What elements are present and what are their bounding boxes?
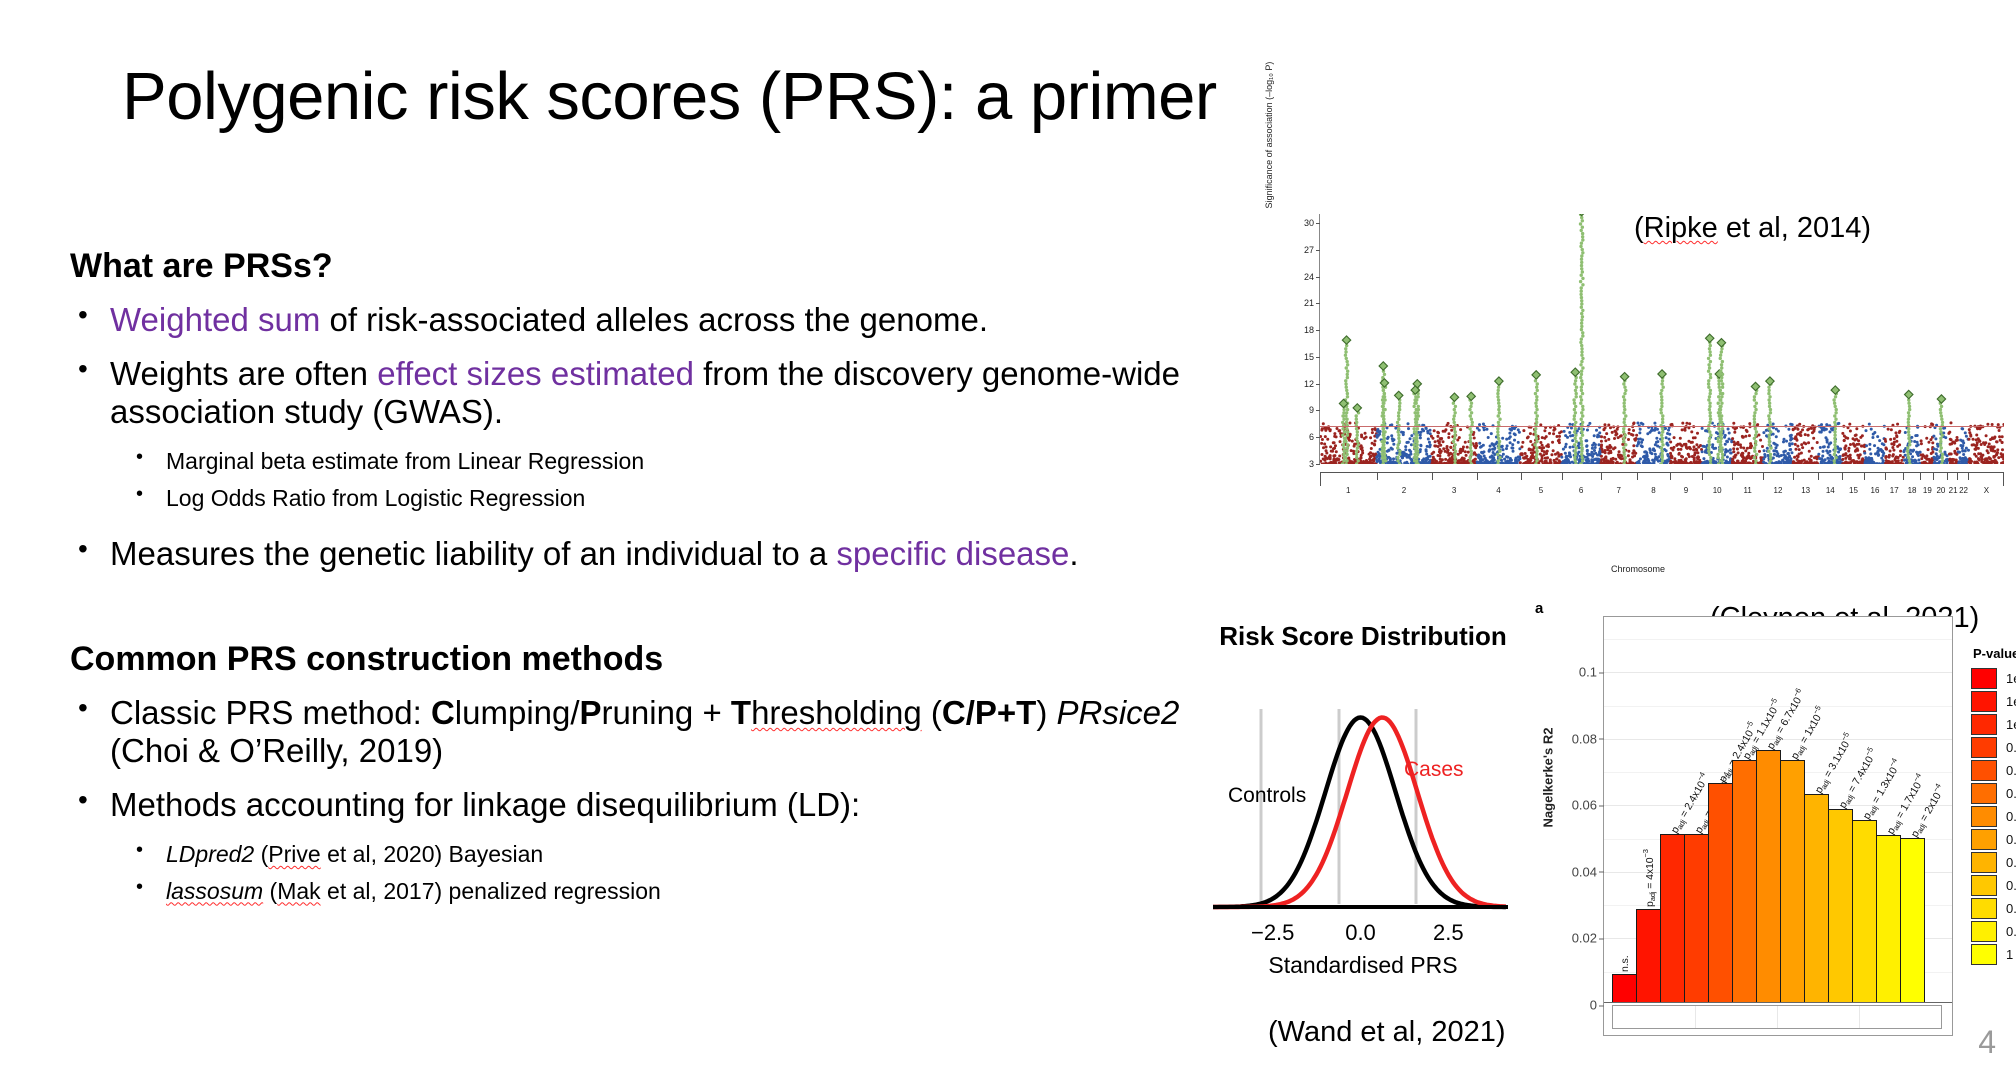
ldpred2-open-paren: ( xyxy=(254,841,268,867)
legend-row[interactable]: 0.5 xyxy=(1971,920,2016,943)
bar-chart-bar[interactable]: padj = 2.4x10−5 xyxy=(1708,783,1733,1003)
sub-bullet-log-odds-ratio: Log Odds Ratio from Logistic Regression xyxy=(70,484,1180,513)
manhattan-chromosome-tick-label: 1 xyxy=(1346,486,1350,495)
legend-title: P-value thresholds xyxy=(1973,646,2016,661)
legend-color-swatch xyxy=(1971,783,1997,804)
risk-score-distribution-figure: Risk Score Distribution Controls Cases −… xyxy=(1208,618,1518,1008)
legend-row[interactable]: 0.001 xyxy=(1971,736,2016,759)
bar-chart-bars: n.s.padj = 4x10−3padj = 2.4x10−4padj = 2… xyxy=(1612,629,1924,1003)
spacer xyxy=(70,589,1180,641)
legend-color-swatch xyxy=(1971,944,1997,965)
legend-row[interactable]: 0.005 xyxy=(1971,759,2016,782)
legend-label: 0.001 xyxy=(2006,740,2016,755)
bullet-liability-part-b: . xyxy=(1069,535,1078,572)
bullet-weights-part-a: Weights are often xyxy=(110,355,377,392)
citation-wand: (Wand et al, 2021) xyxy=(1268,1016,1506,1049)
manhattan-chromosome-tick-label: 10 xyxy=(1713,486,1722,495)
legend-row[interactable]: 0.4 xyxy=(1971,897,2016,920)
bullet-ld-methods: Methods accounting for linkage disequili… xyxy=(70,786,1180,824)
legend-color-swatch xyxy=(1971,714,1997,735)
lassosum-open-paren: ( xyxy=(263,878,277,904)
sub-bullet-marginal-beta: Marginal beta estimate from Linear Regre… xyxy=(70,447,1180,476)
bullet-weights-effect-sizes: Weights are often effect sizes estimated… xyxy=(70,355,1180,431)
manhattan-y-tick: 24 xyxy=(1304,272,1314,282)
bullet-weights-highlight: effect sizes estimated xyxy=(377,355,694,392)
density-label-controls: Controls xyxy=(1228,784,1306,808)
manhattan-chromosome-tick-label: 12 xyxy=(1774,486,1783,495)
section-heading-what-are-prss: What are PRSs? xyxy=(70,248,1180,285)
legend-label: 1e-06 xyxy=(2006,671,2016,686)
manhattan-chromosome-tick-label: 22 xyxy=(1959,486,1968,495)
bar-chart-y-axis-label: Nagelkerke's R2 xyxy=(1541,703,1556,853)
bar-chart-annotation: n.s. xyxy=(1619,955,1631,972)
sub-bullet-lassosum: lassosum (Mak et al, 2017) penalized reg… xyxy=(70,877,1180,906)
bar-chart-bar[interactable]: padj = 1.3x10−4 xyxy=(1852,820,1877,1003)
legend-color-swatch xyxy=(1971,737,1997,758)
legend-label: 1 xyxy=(2006,947,2013,962)
density-x-tick: 2.5 xyxy=(1433,920,1464,946)
bullet-weighted-sum: Weighted sum of risk-associated alleles … xyxy=(70,301,1180,339)
manhattan-y-tick: 12 xyxy=(1304,379,1314,389)
density-x-tick: −2.5 xyxy=(1251,920,1294,946)
legend-color-swatch xyxy=(1971,898,1997,919)
bullet-genetic-liability: Measures the genetic liability of an ind… xyxy=(70,535,1180,573)
bar-chart-frame: 00.020.040.060.080.1 n.s.padj = 4x10−3pa… xyxy=(1603,616,1953,1036)
legend-color-swatch xyxy=(1971,829,1997,850)
legend-label: 0.2 xyxy=(2006,855,2016,870)
bullet-liability-part-a: Measures the genetic liability of an ind… xyxy=(110,535,836,572)
legend-color-swatch xyxy=(1971,691,1997,712)
legend-label: 0.01 xyxy=(2006,786,2016,801)
legend-label: 0.3 xyxy=(2006,878,2016,893)
legend-row[interactable]: 0.01 xyxy=(1971,782,2016,805)
manhattan-y-tick: 3 xyxy=(1309,459,1314,469)
manhattan-chromosome-tick-label: 19 xyxy=(1923,486,1932,495)
bar-chart-plot-area: n.s.padj = 4x10−3padj = 2.4x10−4padj = 2… xyxy=(1612,629,1942,1003)
legend-row[interactable]: 0.05 xyxy=(1971,805,2016,828)
classic-letter-t: T xyxy=(731,694,751,731)
legend-color-swatch xyxy=(1971,921,1997,942)
lassosum-author: Mak xyxy=(277,878,320,904)
manhattan-chromosome-tick-label: 18 xyxy=(1908,486,1917,495)
bar-chart-bar[interactable]: padj = 7.4x10−5 xyxy=(1828,809,1853,1003)
density-curves-svg xyxy=(1208,704,1518,919)
classic-runing: runing + xyxy=(602,694,731,731)
tool-name-ldpred2: LDpred2 xyxy=(166,841,254,867)
manhattan-chromosome-tick-label: 8 xyxy=(1651,486,1655,495)
bar-chart-bar[interactable]: padj = 1x10−5 xyxy=(1780,760,1805,1003)
manhattan-chromosome-tick-label: 5 xyxy=(1539,486,1543,495)
legend-label: 1e-05 xyxy=(2006,694,2016,709)
legend-row[interactable]: 0.2 xyxy=(1971,851,2016,874)
manhattan-chromosome-tick-label: 16 xyxy=(1871,486,1880,495)
sub-bullet-ldpred2: LDpred2 (Prive et al, 2020) Bayesian xyxy=(70,840,1180,869)
bar-chart-bar[interactable]: padj = 2x10−4 xyxy=(1900,838,1925,1003)
page-title: Polygenic risk scores (PRS): a primer xyxy=(122,62,1217,132)
manhattan-y-tick: 27 xyxy=(1304,245,1314,255)
tool-name-prsice2: PRsice2 xyxy=(1056,694,1179,731)
bar-chart-bar[interactable]: padj = 4x10−3 xyxy=(1636,909,1661,1003)
legend-color-swatch xyxy=(1971,875,1997,896)
density-x-axis-title: Standardised PRS xyxy=(1208,952,1518,979)
classic-lumping: lumping/ xyxy=(455,694,580,731)
legend-label: 1e-04 xyxy=(2006,717,2016,732)
section-heading-common-methods: Common PRS construction methods xyxy=(70,641,1180,678)
classic-abbrev: C/P+T xyxy=(942,694,1036,731)
legend-label: 0.1 xyxy=(2006,832,2016,847)
legend-label: 0.5 xyxy=(2006,924,2016,939)
legend-row[interactable]: 1e-05 xyxy=(1971,690,2016,713)
manhattan-y-tick: 21 xyxy=(1304,298,1314,308)
legend-label: 0.4 xyxy=(2006,901,2016,916)
manhattan-x-axis-label: Chromosome xyxy=(1268,564,2008,574)
ldpred2-author: Prive xyxy=(268,841,320,867)
density-label-cases: Cases xyxy=(1404,758,1464,782)
manhattan-plot-area: 36912151821242730 xyxy=(1320,214,2004,464)
bar-chart-baseline xyxy=(1604,1002,1952,1003)
bar-chart-y-tick: 0.06 xyxy=(1572,798,1597,813)
manhattan-chromosome-tick-label: 14 xyxy=(1826,486,1835,495)
manhattan-chromosome-tick-label: 20 xyxy=(1936,486,1945,495)
manhattan-chromosome-tick-label: 7 xyxy=(1616,486,1620,495)
classic-letter-p: P xyxy=(580,694,602,731)
manhattan-chromosome-tick-label: 2 xyxy=(1402,486,1406,495)
bar-chart-bar[interactable]: n.s. xyxy=(1612,974,1637,1003)
manhattan-y-tick: 9 xyxy=(1309,405,1314,415)
bar-chart-x-axis-box xyxy=(1612,1005,1942,1029)
legend-entries: 1e-061e-051e-040.0010.0050.010.050.10.20… xyxy=(1971,667,2016,966)
bar-chart-bar[interactable]: padj = 2.4x10−4 xyxy=(1660,834,1685,1003)
bullet-weighted-sum-highlight: Weighted sum xyxy=(110,301,320,338)
manhattan-chromosome-tick-label: 3 xyxy=(1452,486,1456,495)
legend-row[interactable]: 0.1 xyxy=(1971,828,2016,851)
manhattan-y-axis-label: Significance of association (–log₁₀ P) xyxy=(1264,20,1274,250)
legend-label: 0.05 xyxy=(2006,809,2016,824)
manhattan-chromosome-tick-label: X xyxy=(1984,486,1989,495)
bar-chart-bar[interactable]: padj = 6.7x10−6 xyxy=(1756,750,1781,1003)
bullet-liability-highlight: specific disease xyxy=(836,535,1069,572)
bullet-classic-prs-method: Classic PRS method: Clumping/Pruning + T… xyxy=(70,694,1180,770)
bar-chart-annotation: padj = 4x10−3 xyxy=(1641,849,1657,907)
bar-chart-y-tick: 0.04 xyxy=(1572,864,1597,879)
legend-color-swatch xyxy=(1971,760,1997,781)
bullet-weighted-sum-rest: of risk-associated alleles across the ge… xyxy=(320,301,988,338)
panel-letter-a: a xyxy=(1535,600,1543,617)
slide-page-number: 4 xyxy=(1978,1024,1996,1061)
manhattan-chromosome-tick-label: 17 xyxy=(1890,486,1899,495)
bar-chart-bar[interactable]: padj = 1.7x10−4 xyxy=(1876,835,1901,1003)
manhattan-chromosome-tick-label: 13 xyxy=(1801,486,1810,495)
manhattan-y-tick: 6 xyxy=(1309,432,1314,442)
bar-chart-bar[interactable]: padj = 3.1x10−5 xyxy=(1804,794,1829,1003)
manhattan-y-tick: 30 xyxy=(1304,218,1314,228)
legend-label: 0.005 xyxy=(2006,763,2016,778)
bar-chart-legend: P-value thresholds 1e-061e-051e-040.0010… xyxy=(1971,646,2016,966)
classic-open-paren: ( xyxy=(922,694,942,731)
manhattan-chromosome-tick-label: 6 xyxy=(1579,486,1583,495)
legend-row[interactable]: 1e-04 xyxy=(1971,713,2016,736)
classic-citation: (Choi & O’Reilly, 2019) xyxy=(110,732,443,769)
manhattan-chromosome-labels: 12345678910111213141516171819202122X xyxy=(1320,486,2004,500)
manhattan-chromosome-tick-bar xyxy=(1320,472,2004,486)
slide-canvas: Polygenic risk scores (PRS): a primer Wh… xyxy=(0,0,2016,1085)
density-x-tick-labels: −2.50.02.5 xyxy=(1208,920,1518,946)
manhattan-chromosome-tick-label: 21 xyxy=(1949,486,1958,495)
legend-color-swatch xyxy=(1971,806,1997,827)
bar-chart-bar[interactable]: padj = 1.1x10−5 xyxy=(1732,760,1757,1003)
manhattan-chromosome-tick-label: 15 xyxy=(1849,486,1858,495)
classic-part-a: Classic PRS method: xyxy=(110,694,431,731)
legend-row[interactable]: 1e-06 xyxy=(1971,667,2016,690)
bar-chart-y-tick: 0.02 xyxy=(1572,931,1597,946)
density-canvas: Controls Cases xyxy=(1208,704,1518,919)
bar-chart-y-tick: 0.1 xyxy=(1579,665,1597,680)
lassosum-rest: et al, 2017) penalized regression xyxy=(321,878,661,904)
ldpred2-rest: et al, 2020) Bayesian xyxy=(321,841,543,867)
spacer xyxy=(70,521,1180,535)
bar-chart-y-tick: 0.08 xyxy=(1572,731,1597,746)
legend-row[interactable]: 1 xyxy=(1971,943,2016,966)
manhattan-chromosome-tick-label: 4 xyxy=(1496,486,1500,495)
manhattan-plot-figure: Significance of association (–log₁₀ P) 3… xyxy=(1268,210,2008,570)
bar-chart-y-tick: 0 xyxy=(1590,998,1597,1013)
legend-color-swatch xyxy=(1971,852,1997,873)
risk-score-distribution-title: Risk Score Distribution xyxy=(1208,622,1518,652)
classic-close-paren: ) xyxy=(1036,694,1056,731)
density-x-tick: 0.0 xyxy=(1345,920,1376,946)
classic-letter-c: C xyxy=(431,694,455,731)
manhattan-y-tick: 18 xyxy=(1304,325,1314,335)
tool-name-lassosum: lassosum xyxy=(166,878,263,904)
prs-threshold-bar-figure: a Nagelkerke's R2 00.020.040.060.080.1 n… xyxy=(1535,600,2007,1052)
legend-row[interactable]: 0.3 xyxy=(1971,874,2016,897)
manhattan-chromosome-tick-label: 9 xyxy=(1684,486,1688,495)
legend-color-swatch xyxy=(1971,668,1997,689)
bar-chart-bar[interactable]: padj = 2.1x10−4 xyxy=(1684,834,1709,1003)
classic-hresholding: hresholding xyxy=(751,694,922,731)
manhattan-y-tick: 15 xyxy=(1304,352,1314,362)
manhattan-chromosome-tick-label: 11 xyxy=(1744,486,1752,495)
manhattan-significance-line xyxy=(1320,426,2004,427)
content-body: What are PRSs? Weighted sum of risk-asso… xyxy=(70,248,1180,913)
